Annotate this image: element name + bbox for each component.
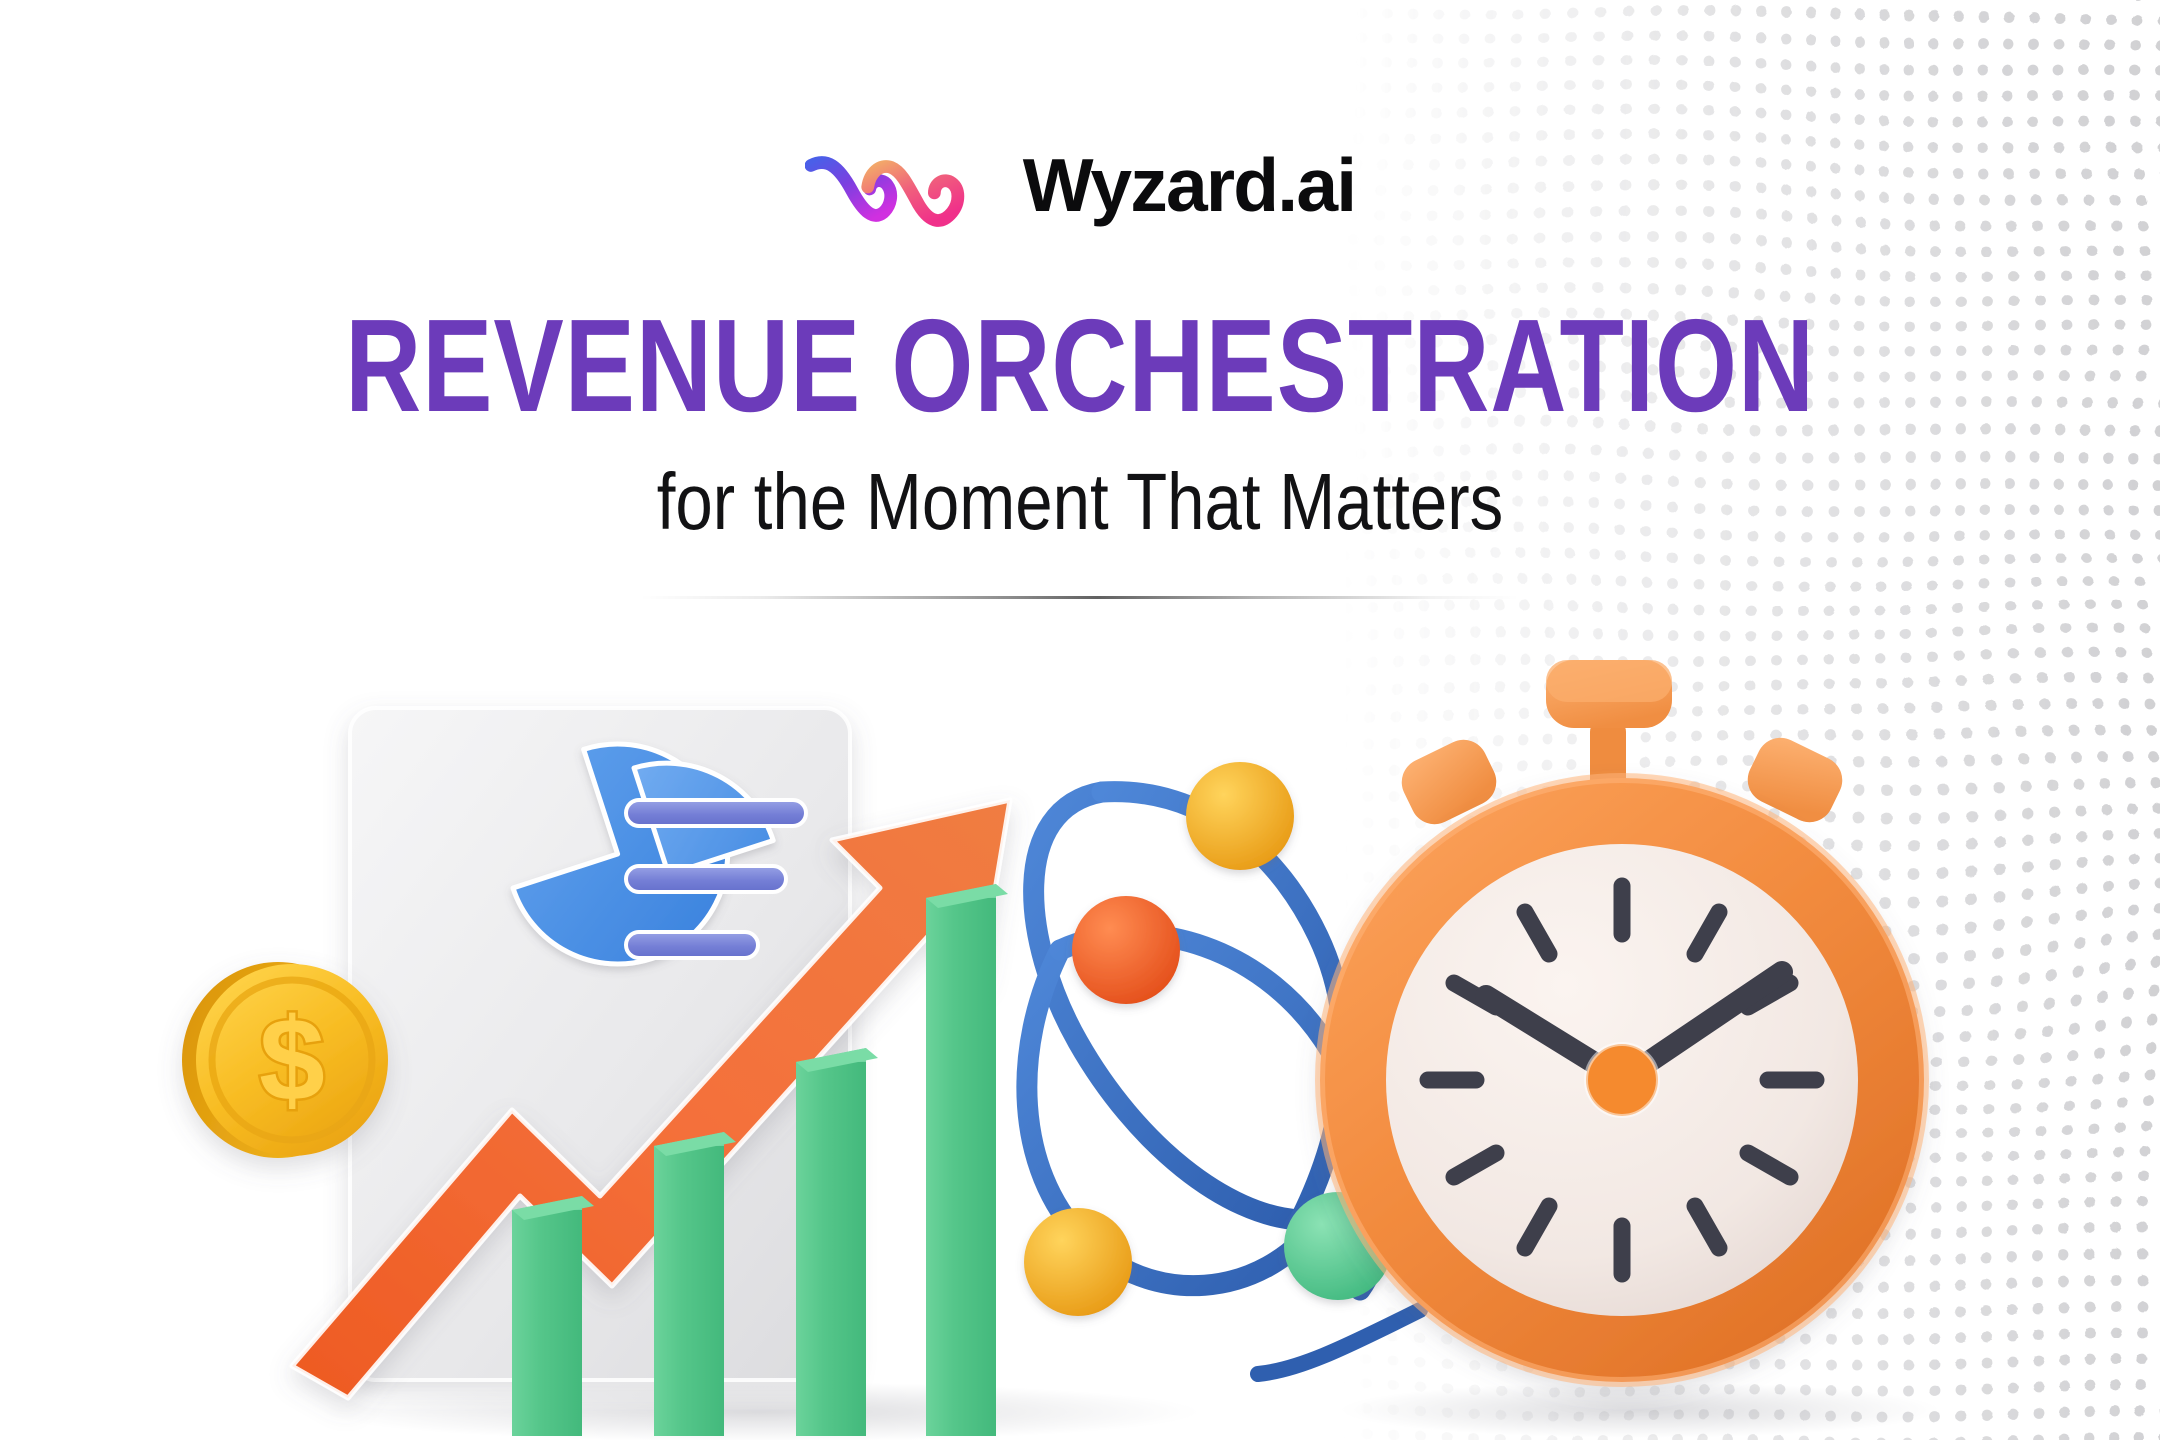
page-subtitle: for the Moment That Matters [173, 462, 1987, 542]
stopwatch-center-cap [1586, 1044, 1658, 1116]
wyzard-wave-mark-icon [805, 138, 1001, 236]
gradient-rule-divider [640, 596, 1520, 599]
hero-text-block: REVENUE ORCHESTRATION for the Moment Tha… [0, 300, 2160, 599]
brand-logo[interactable]: Wyzard.ai [0, 138, 2160, 236]
dollar-sign: $ [259, 994, 325, 1126]
bar-3 [796, 1048, 878, 1436]
node-bottom-left [1024, 1208, 1132, 1316]
brand-wordmark: Wyzard.ai [1023, 148, 1356, 223]
bar-1 [512, 1196, 594, 1436]
node-left [1072, 896, 1180, 1004]
gold-coin-icon: $ [182, 962, 388, 1158]
revenue-analytics-illustration: $ [0, 650, 2160, 1440]
bar-2 [654, 1132, 736, 1436]
bar-4 [926, 884, 1008, 1436]
svg-text:$: $ [259, 994, 325, 1126]
page-title: REVENUE ORCHESTRATION [216, 300, 1944, 432]
node-top [1186, 762, 1294, 870]
stopwatch-cord [1258, 1310, 1420, 1374]
banner-canvas: Wyzard.ai REVENUE ORCHESTRATION for the … [0, 0, 2160, 1440]
